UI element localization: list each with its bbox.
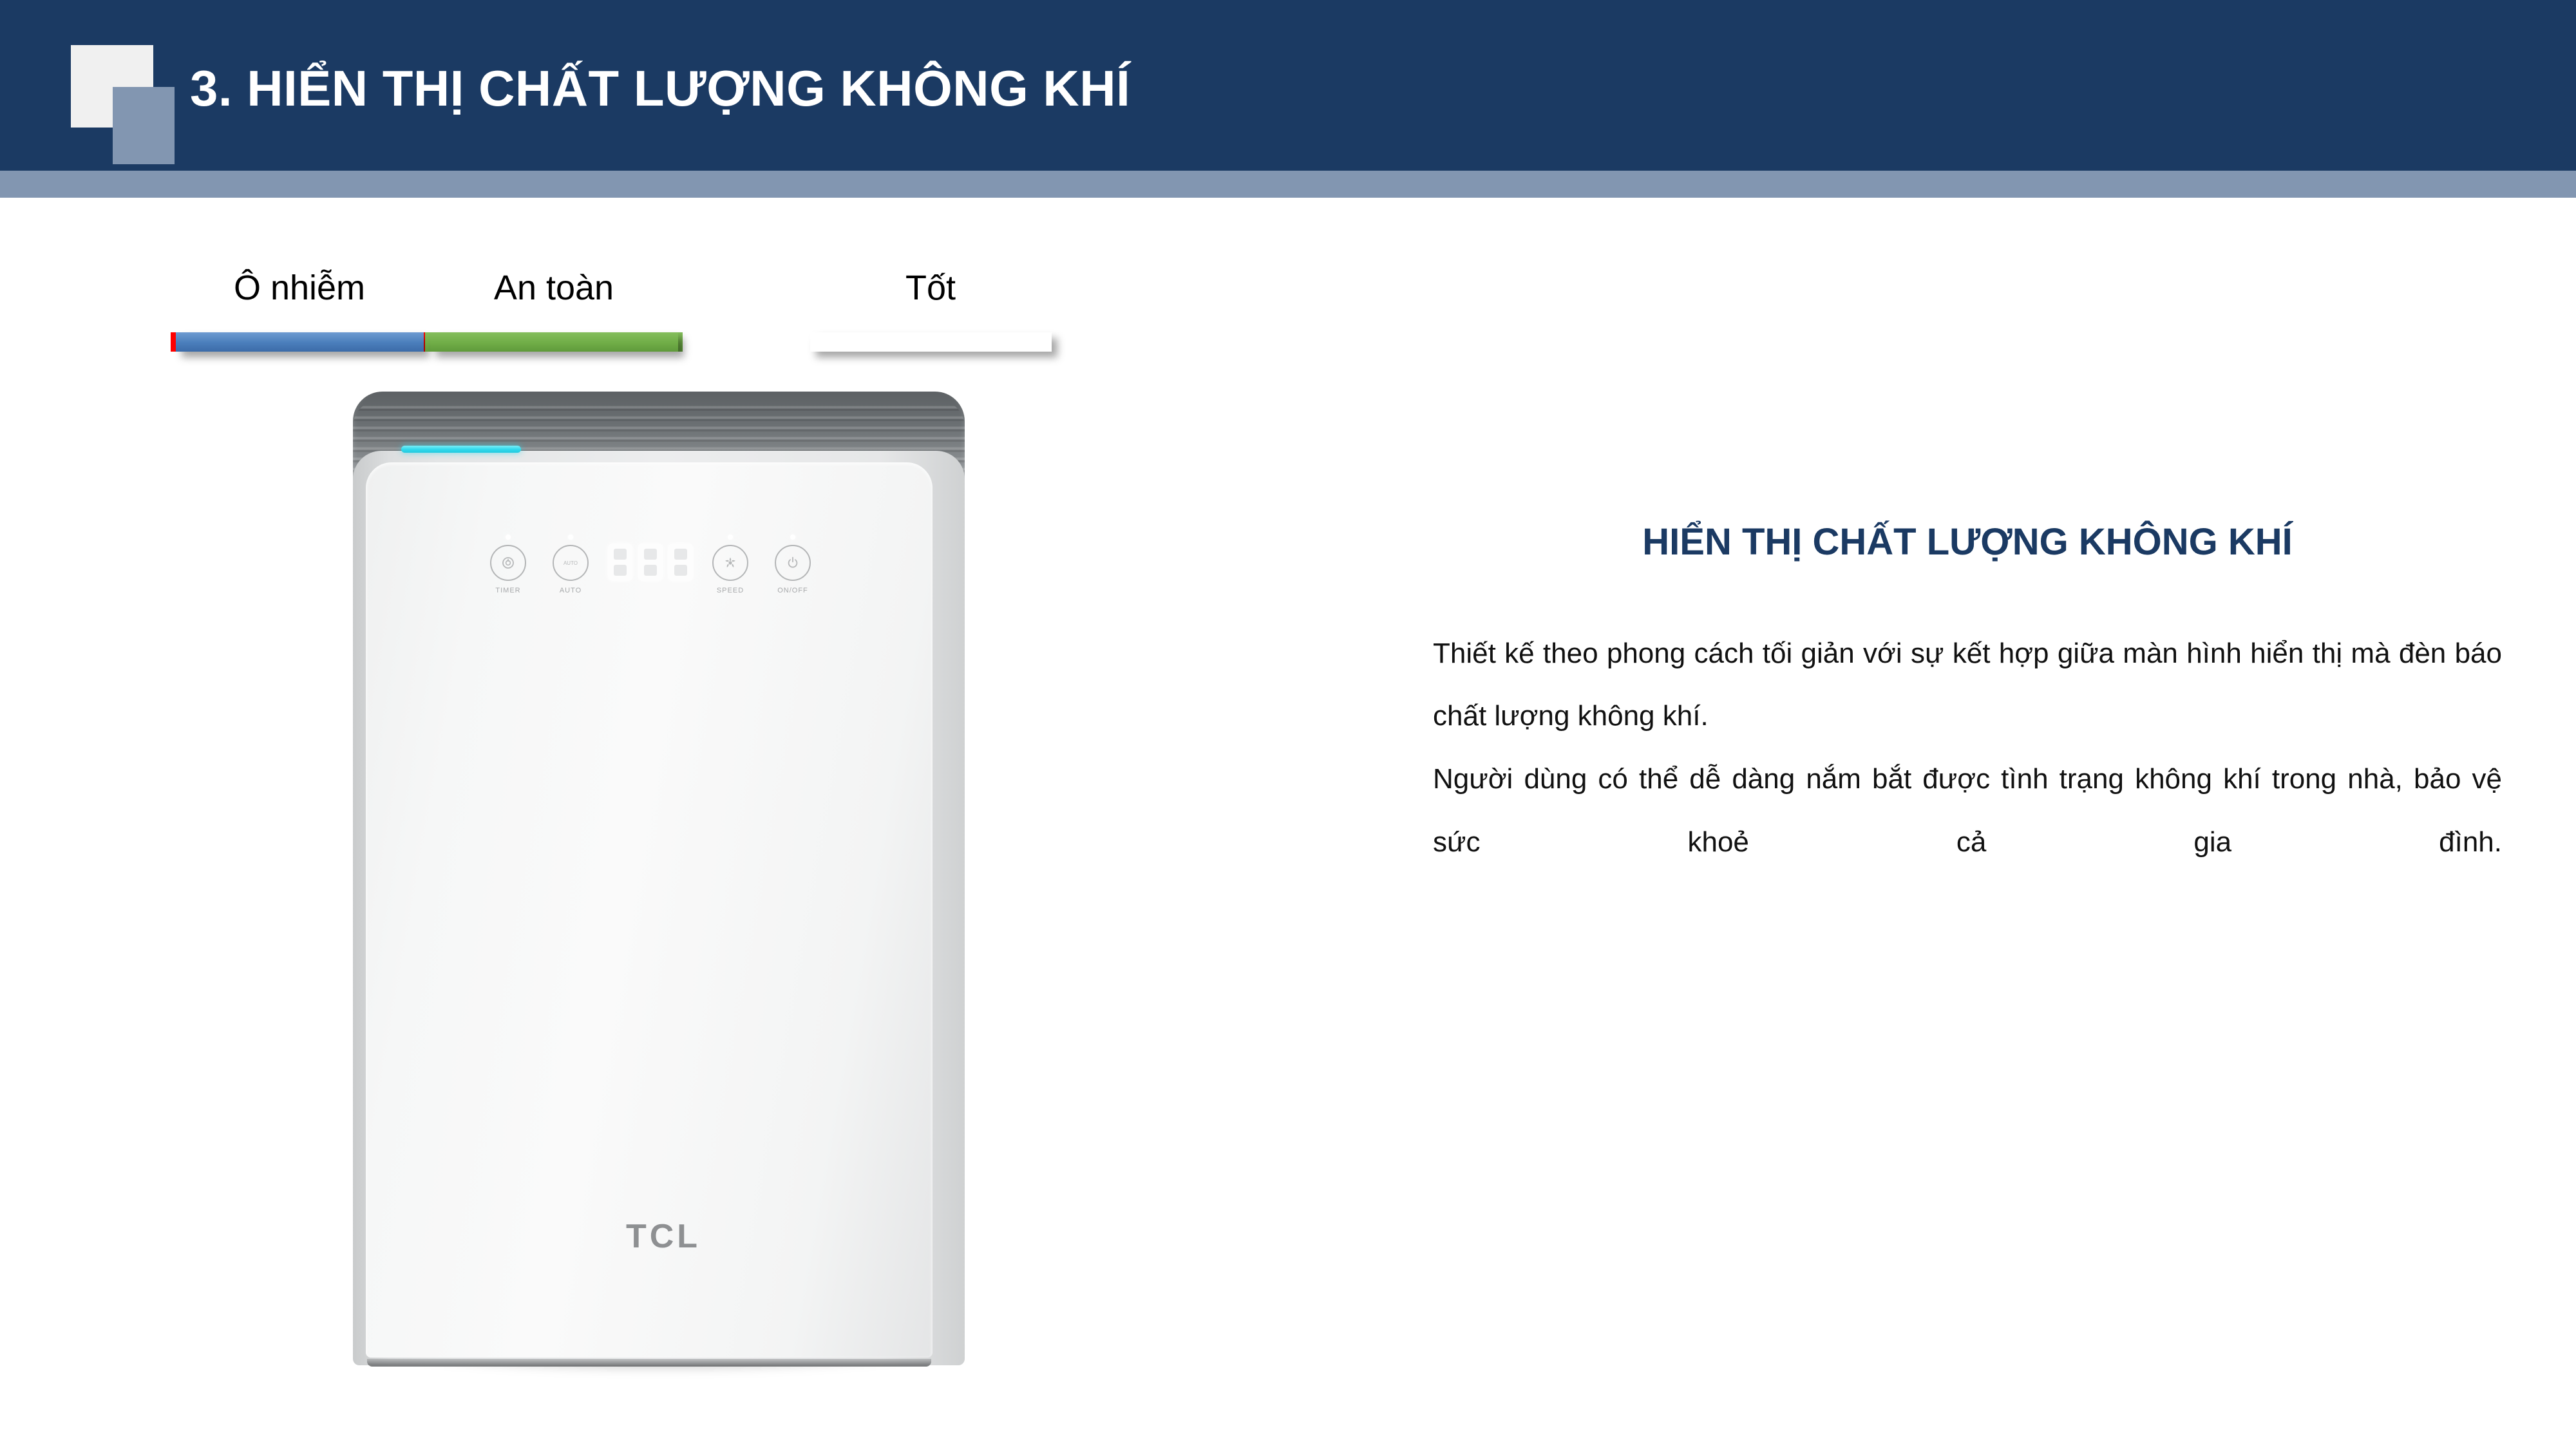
description-panel: HIỂN THỊ CHẤT LƯỢNG KHÔNG KHÍ Thiết kế t… [1433,522,2502,936]
fan-speed-icon [723,555,738,571]
legend-bar-wrap-safe [425,332,683,352]
display-digit [638,544,663,581]
device-bottom-edge [367,1359,931,1367]
legend-label-polluted: Ô nhiễm [171,270,428,305]
control-auto[interactable]: AUTO AUTO [545,535,596,594]
timer-button-ring[interactable] [490,545,526,581]
legend-item-good: Tốt [802,270,1059,352]
legend-bar-wrap-good [802,332,1059,352]
speed-led-icon [728,535,733,540]
power-icon [785,555,800,571]
decoration-square-steel [113,87,175,164]
air-quality-legend: Ô nhiễm An toàn Tốt [0,270,1224,399]
air-quality-digital-display [608,544,693,581]
timer-icon [500,555,516,571]
legend-bar-good [810,332,1052,352]
legend-label-safe: An toàn [425,270,683,305]
device-control-panel: TIMER AUTO AUTO [483,535,818,631]
auto-icon: AUTO [562,558,579,567]
air-purifier-product-image: TIMER AUTO AUTO [296,386,1030,1391]
legend-label-good: Tốt [802,270,1059,305]
display-digit [668,544,693,581]
air-quality-indicator-bar [401,446,521,453]
header-accent-strip [0,171,2576,198]
control-label-power: ON/OFF [777,587,808,594]
page-title: 3. HIỂN THỊ CHẤT LƯỢNG KHÔNG KHÍ [190,63,1130,113]
power-button-ring[interactable] [775,545,811,581]
description-paragraph-2: Người dùng có thể dễ dàng nắm bắt được t… [1433,748,2502,936]
brand-logo-tcl: TCL [296,1217,1030,1256]
speed-button-ring[interactable] [712,545,748,581]
control-label-speed: SPEED [717,587,744,594]
auto-led-icon [568,535,573,540]
svg-text:AUTO: AUTO [563,560,578,566]
section-heading: HIỂN THỊ CHẤT LƯỢNG KHÔNG KHÍ [1433,522,2502,563]
control-speed[interactable]: SPEED [705,535,755,594]
description-paragraph-1: Thiết kế theo phong cách tối giản với sự… [1433,622,2502,748]
control-power[interactable]: ON/OFF [768,535,818,594]
auto-button-ring[interactable]: AUTO [553,545,589,581]
display-digit [608,544,632,581]
control-label-auto: AUTO [560,587,582,594]
legend-item-polluted: Ô nhiễm [171,270,428,352]
timer-led-icon [506,535,511,540]
legend-bar-wrap-polluted [171,332,428,352]
legend-item-safe: An toàn [425,270,683,352]
legend-bar-polluted [176,332,424,352]
legend-bar-safe [430,332,678,352]
control-timer[interactable]: TIMER [483,535,533,594]
power-led-icon [790,535,795,540]
control-label-timer: TIMER [495,587,520,594]
